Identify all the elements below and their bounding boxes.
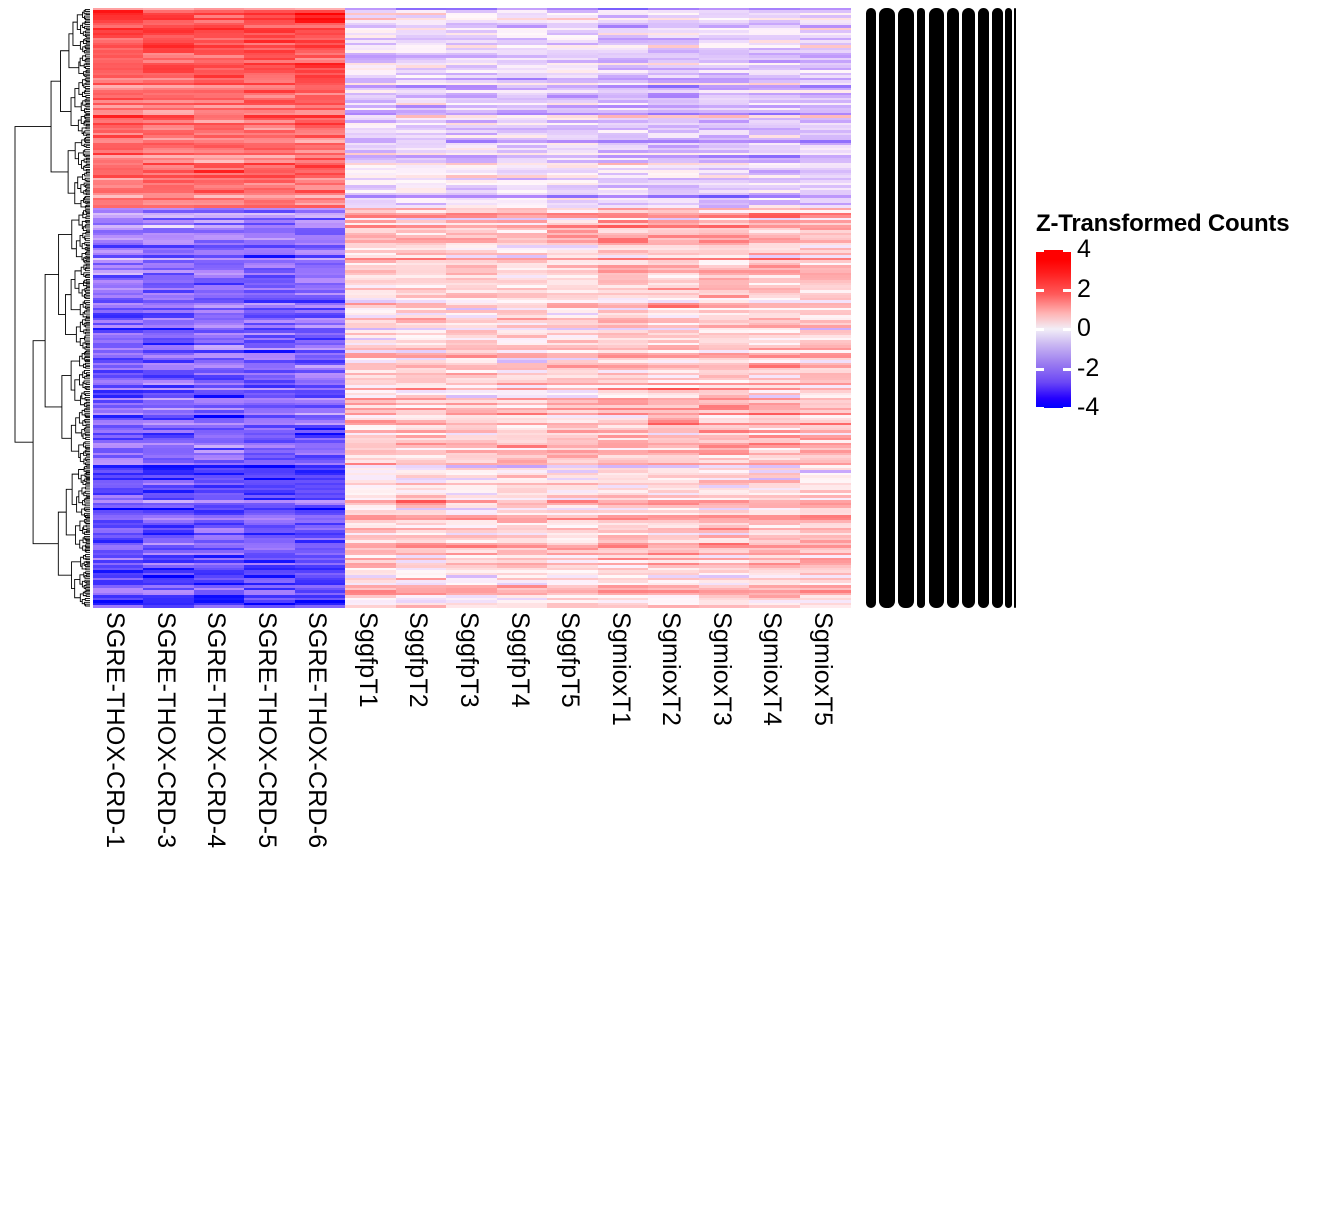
legend-tick-mark bbox=[1036, 368, 1044, 371]
column-label-5: SggfpT1 bbox=[355, 612, 380, 1212]
legend-tick-mark bbox=[1063, 249, 1071, 252]
column-label-13: SgmioxT4 bbox=[759, 612, 784, 1212]
column-label-0: SGRE-THOX-CRD-1 bbox=[102, 612, 127, 1212]
row-label-bar bbox=[929, 8, 944, 608]
row-dendrogram-svg bbox=[14, 8, 91, 608]
legend-tick-mark bbox=[1063, 289, 1071, 292]
legend-title: Z-Transformed Counts bbox=[1036, 210, 1289, 238]
column-label-11: SgmioxT2 bbox=[658, 612, 683, 1212]
row-label-bar bbox=[978, 8, 989, 608]
legend-tick-mark bbox=[1036, 249, 1044, 252]
column-label-7: SggfpT3 bbox=[456, 612, 481, 1212]
column-labels: SGRE-THOX-CRD-1SGRE-THOX-CRD-3SGRE-THOX-… bbox=[93, 612, 851, 942]
heatmap-matrix bbox=[93, 8, 851, 608]
column-label-2: SGRE-THOX-CRD-4 bbox=[203, 612, 228, 1212]
legend-tick-mark bbox=[1063, 368, 1071, 371]
legend-tick-label: 4 bbox=[1077, 237, 1091, 262]
row-label-bar bbox=[917, 8, 925, 608]
legend: Z-Transformed Counts 420-2-4 bbox=[1036, 210, 1336, 420]
row-dendrogram bbox=[14, 8, 91, 608]
column-label-14: SgmioxT5 bbox=[810, 612, 835, 1212]
column-label-6: SggfpT2 bbox=[405, 612, 430, 1212]
column-label-1: SGRE-THOX-CRD-3 bbox=[153, 612, 178, 1212]
legend-tick-mark bbox=[1036, 407, 1044, 410]
column-label-12: SgmioxT3 bbox=[709, 612, 734, 1212]
legend-tick-label: 2 bbox=[1077, 277, 1091, 302]
legend-tick-label: 0 bbox=[1077, 316, 1091, 341]
legend-tick-label: -2 bbox=[1077, 356, 1099, 381]
row-label-bar bbox=[898, 8, 914, 608]
legend-tick-mark bbox=[1063, 328, 1071, 331]
row-label-bar bbox=[992, 8, 1003, 608]
column-label-10: SgmioxT1 bbox=[608, 612, 633, 1212]
row-label-bar bbox=[962, 8, 975, 608]
legend-tick-label: -4 bbox=[1077, 395, 1099, 420]
column-label-9: SggfpT5 bbox=[557, 612, 582, 1212]
row-labels-block bbox=[866, 8, 1016, 608]
column-label-4: SGRE-THOX-CRD-6 bbox=[304, 612, 329, 1212]
heatmap-cells bbox=[93, 8, 851, 608]
column-label-8: SggfpT4 bbox=[507, 612, 532, 1212]
row-label-bar bbox=[1014, 8, 1016, 608]
row-label-bar bbox=[866, 8, 876, 608]
row-label-bar bbox=[947, 8, 959, 608]
legend-tick-mark bbox=[1036, 289, 1044, 292]
figure-canvas: SGRE-THOX-CRD-1SGRE-THOX-CRD-3SGRE-THOX-… bbox=[0, 0, 1344, 960]
row-label-bar bbox=[1005, 8, 1012, 608]
column-label-3: SGRE-THOX-CRD-5 bbox=[254, 612, 279, 1212]
legend-tick-mark bbox=[1036, 328, 1044, 331]
row-label-bar bbox=[879, 8, 895, 608]
legend-tick-mark bbox=[1063, 407, 1071, 410]
